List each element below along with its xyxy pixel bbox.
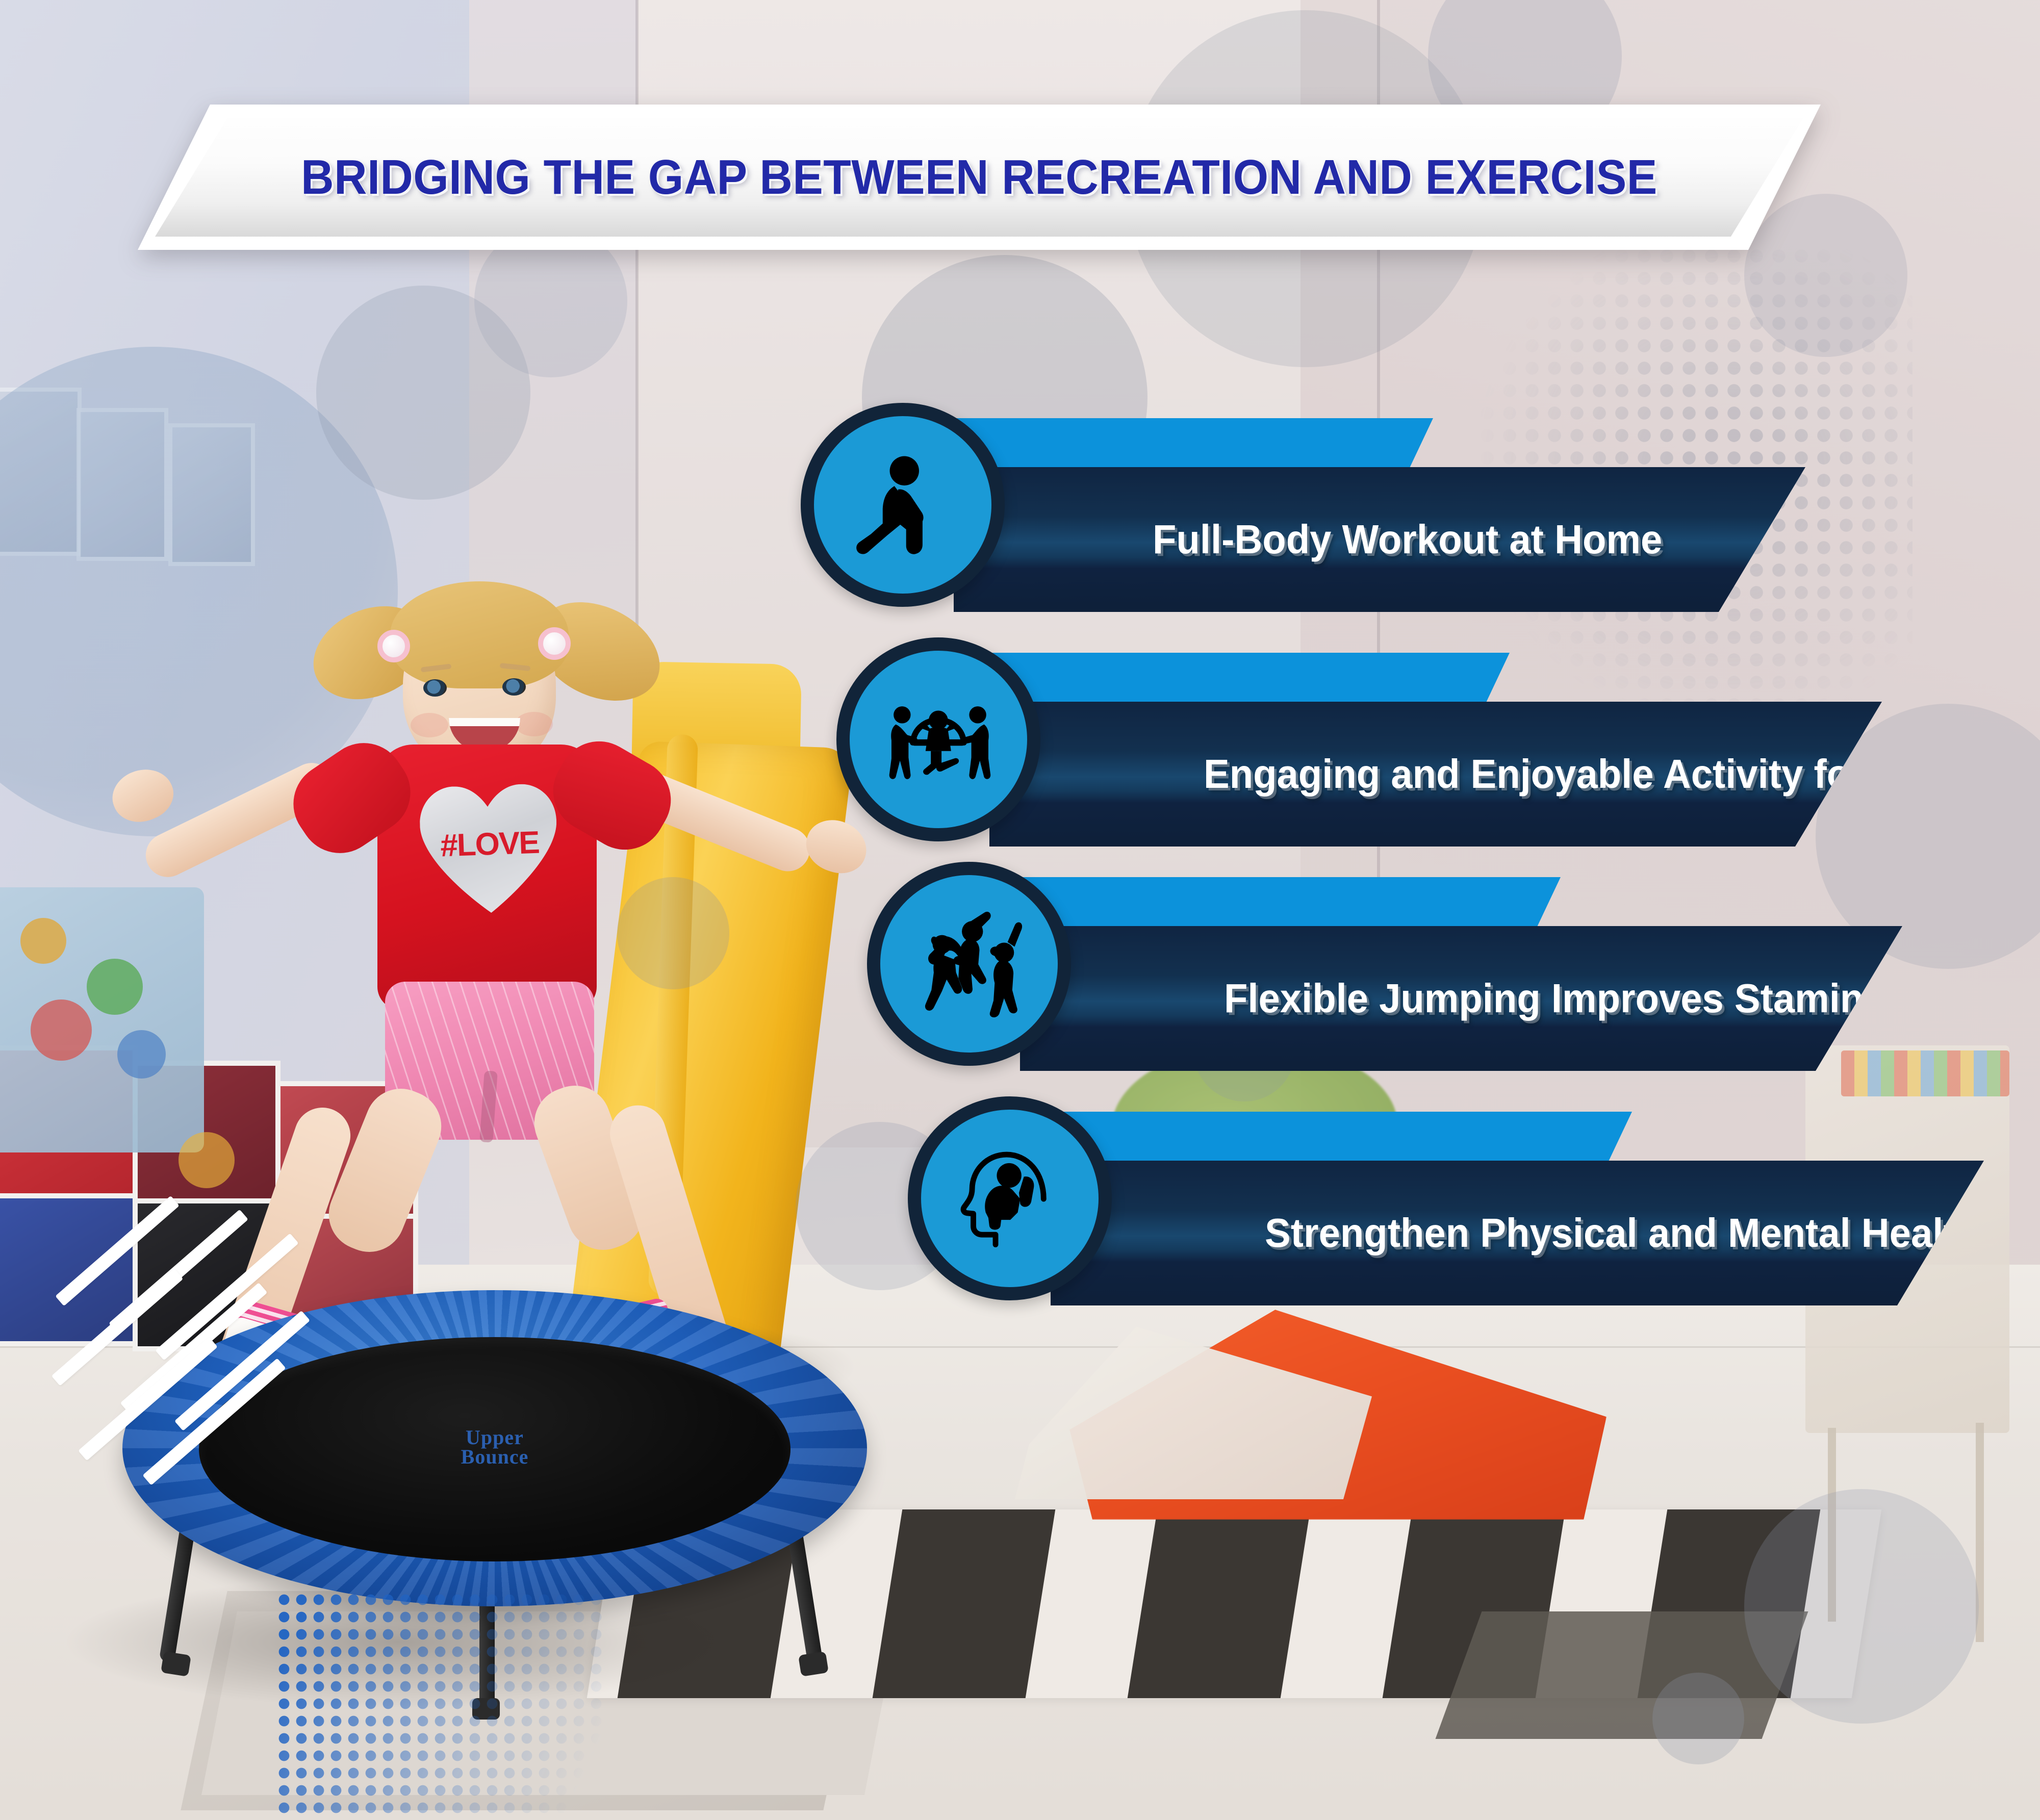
eye-left	[423, 679, 447, 697]
feature-row-4[interactable]: Strengthen Physical and Mental Health	[1051, 1112, 1984, 1305]
hand-left	[105, 760, 181, 831]
tshirt-love-text: #LOVE	[428, 824, 551, 864]
toy-ball	[20, 918, 66, 964]
feature-row-3[interactable]: Flexible Jumping Improves Stamina	[1020, 877, 1902, 1071]
exercise-lunge-figure-icon[interactable]	[801, 403, 1005, 607]
feature-band-3: Flexible Jumping Improves Stamina	[1020, 926, 1902, 1071]
feature-accent-bar-4	[1051, 1112, 1632, 1168]
floor-dark-mat	[1436, 1611, 1808, 1739]
page-title: BRIDGING THE GAP BETWEEN RECREATION AND …	[197, 105, 1762, 250]
feature-label-1: Full-Body Workout at Home	[1153, 516, 1662, 563]
feature-band-4: Strengthen Physical and Mental Health	[1051, 1161, 1984, 1305]
jumping-people-silhouette-icon[interactable]	[867, 862, 1071, 1066]
feature-label-4: Strengthen Physical and Mental Health	[1265, 1210, 1980, 1257]
mat-tile	[1128, 1509, 1311, 1698]
kids-jump-rope-icon[interactable]	[836, 637, 1040, 841]
toy-ball	[31, 999, 92, 1061]
feature-row-1[interactable]: Full-Body Workout at Home	[954, 418, 1805, 612]
feature-row-2[interactable]: Engaging and Enjoyable Activity for Kids	[989, 653, 1882, 847]
hair-band-left	[377, 630, 410, 662]
mat-tile	[873, 1509, 1056, 1698]
diagonal-slash-decoration	[31, 1188, 316, 1504]
feature-band-2: Engaging and Enjoyable Activity for Kids	[989, 702, 1882, 847]
feature-accent-bar-1	[954, 418, 1433, 474]
eye-right	[502, 678, 526, 696]
brand-line-2: Bounce	[408, 1447, 581, 1467]
shelf-leg	[1976, 1423, 1984, 1642]
trampoline-brand-logo: Upper Bounce	[408, 1428, 581, 1467]
hand-right	[799, 813, 873, 880]
feature-label-3: Flexible Jumping Improves Stamina	[1224, 975, 1885, 1022]
infographic-canvas: #LOVE Upper Bounce	[0, 0, 2040, 1820]
feature-label-2: Engaging and Enjoyable Activity for Kids	[1204, 751, 1960, 798]
title-banner: BRIDGING THE GAP BETWEEN RECREATION AND …	[138, 105, 1821, 250]
feature-accent-bar-3	[1020, 877, 1561, 933]
shelf-leg	[1828, 1428, 1836, 1622]
cheek-left	[411, 713, 448, 737]
feature-accent-bar-2	[989, 653, 1510, 709]
trampoline-foot	[161, 1651, 191, 1677]
trampoline-foot	[798, 1651, 829, 1677]
hair-band-right	[538, 627, 571, 660]
wall-picture-frame	[0, 388, 82, 556]
head-profile-strong-arm-icon[interactable]	[908, 1096, 1112, 1300]
feature-band-1: Full-Body Workout at Home	[954, 467, 1805, 612]
blue-halftone-dots	[275, 1591, 602, 1815]
cheek-right	[515, 712, 553, 736]
